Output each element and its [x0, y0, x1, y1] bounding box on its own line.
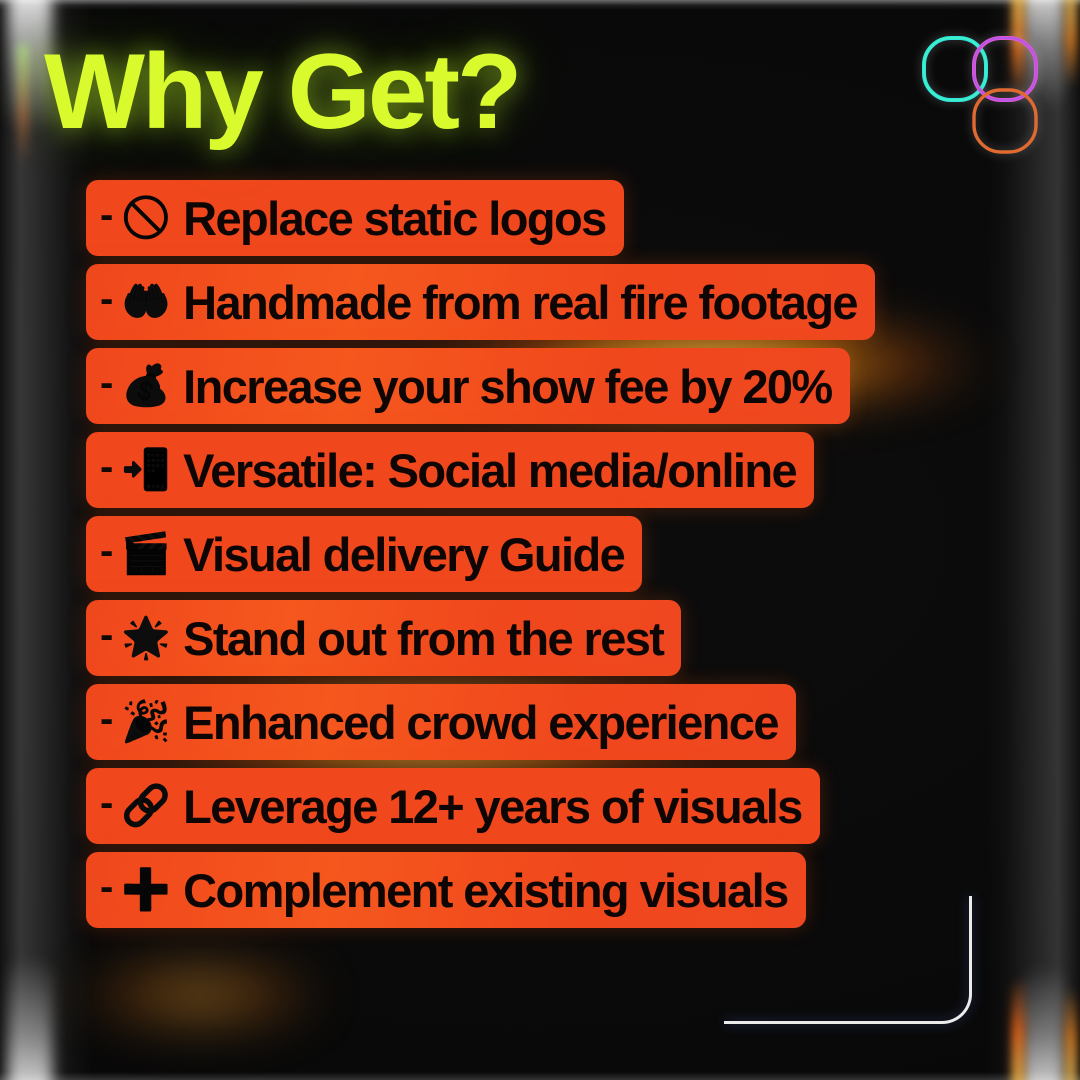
bullet-dash: - [100, 531, 113, 571]
benefit-label: Enhanced crowd experience [183, 699, 778, 746]
benefit-item[interactable]: -🔗Leverage 12+ years of visuals [86, 768, 820, 844]
party-popper-icon: 🎉 [121, 702, 171, 742]
link-icon: 🔗 [121, 786, 171, 826]
plus-icon: ➕ [121, 870, 171, 910]
benefit-label: Versatile: Social media/online [183, 447, 796, 494]
benefit-label: Visual delivery Guide [183, 531, 624, 578]
clapper-board-icon: 🎬 [121, 534, 171, 574]
benefit-item[interactable]: -🎉Enhanced crowd experience [86, 684, 796, 760]
bullet-dash: - [100, 783, 113, 823]
benefits-list: -🚫Replace static logos-🤲Handmade from re… [0, 180, 1080, 928]
benefit-label: Complement existing visuals [183, 867, 788, 914]
benefit-label: Leverage 12+ years of visuals [183, 783, 802, 830]
page-title: Why Get? [44, 38, 519, 145]
benefit-item[interactable]: -🌟Stand out from the rest [86, 600, 681, 676]
benefit-label: Handmade from real fire footage [183, 279, 857, 326]
benefit-item[interactable]: -📲Versatile: Social media/online [86, 432, 814, 508]
prohibited-icon: 🚫 [121, 198, 171, 238]
benefit-item[interactable]: -🤲Handmade from real fire footage [86, 264, 875, 340]
bullet-dash: - [100, 615, 113, 655]
bullet-dash: - [100, 279, 113, 319]
benefit-label: Stand out from the rest [183, 615, 663, 662]
mobile-arrow-icon: 📲 [121, 450, 171, 490]
glowing-star-icon: 🌟 [121, 618, 171, 658]
benefit-label: Increase your show fee by 20% [183, 363, 831, 410]
three-circles-logo-icon [916, 32, 1046, 160]
brand-logo[interactable] [916, 32, 1046, 160]
bullet-dash: - [100, 363, 113, 403]
bullet-dash: - [100, 867, 113, 907]
money-bag-icon: 💰 [121, 366, 171, 406]
benefit-item[interactable]: -💰Increase your show fee by 20% [86, 348, 850, 424]
benefit-item[interactable]: -➕Complement existing visuals [86, 852, 806, 928]
bullet-dash: - [100, 195, 113, 235]
benefit-item[interactable]: -🎬Visual delivery Guide [86, 516, 642, 592]
benefit-item[interactable]: -🚫Replace static logos [86, 180, 624, 256]
slide-canvas: Why Get? -🚫Replace static logos-🤲Handmad… [0, 0, 1080, 1080]
bullet-dash: - [100, 447, 113, 487]
benefit-label: Replace static logos [183, 195, 606, 242]
open-hands-icon: 🤲 [121, 282, 171, 322]
bullet-dash: - [100, 699, 113, 739]
